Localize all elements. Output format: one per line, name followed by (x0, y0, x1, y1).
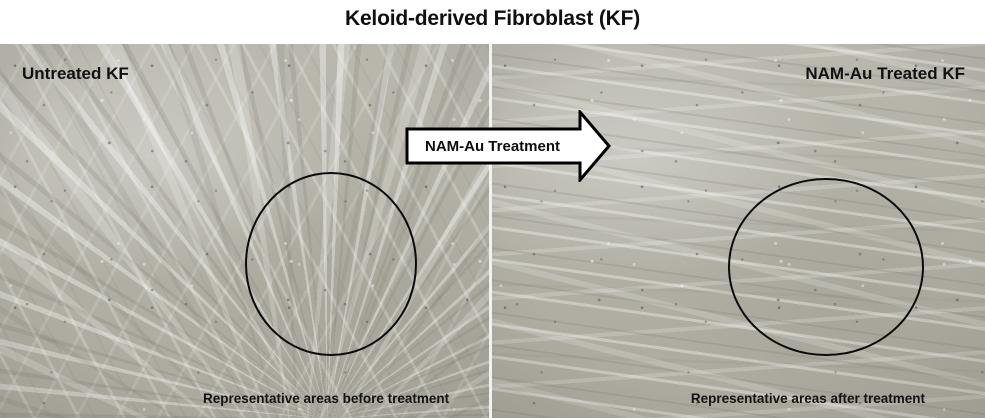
panel-caption-after-treatment: Representative areas after treatment (691, 391, 925, 406)
panel-untreated-kf[interactable]: Untreated KF Representative areas before… (0, 44, 490, 418)
micrograph-image-untreated (0, 44, 490, 418)
panel-treated-kf[interactable]: NAM-Au Treated KF Representative areas a… (490, 44, 985, 418)
panel-label-treated: NAM-Au Treated KF (805, 64, 965, 84)
roi-circle-untreated (245, 172, 417, 356)
panel-caption-before-treatment: Representative areas before treatment (203, 391, 449, 406)
roi-circle-treated (728, 178, 924, 356)
micrograph-panel-row: Untreated KF Representative areas before… (0, 44, 985, 418)
panel-label-untreated: Untreated KF (22, 64, 129, 84)
figure-title: Keloid-derived Fibroblast (KF) (0, 6, 985, 32)
vignette-overlay (0, 44, 490, 418)
panel-divider (489, 44, 492, 418)
arrow-right-icon (405, 110, 611, 182)
figure-root: Keloid-derived Fibroblast (KF) Untreated… (0, 0, 985, 418)
